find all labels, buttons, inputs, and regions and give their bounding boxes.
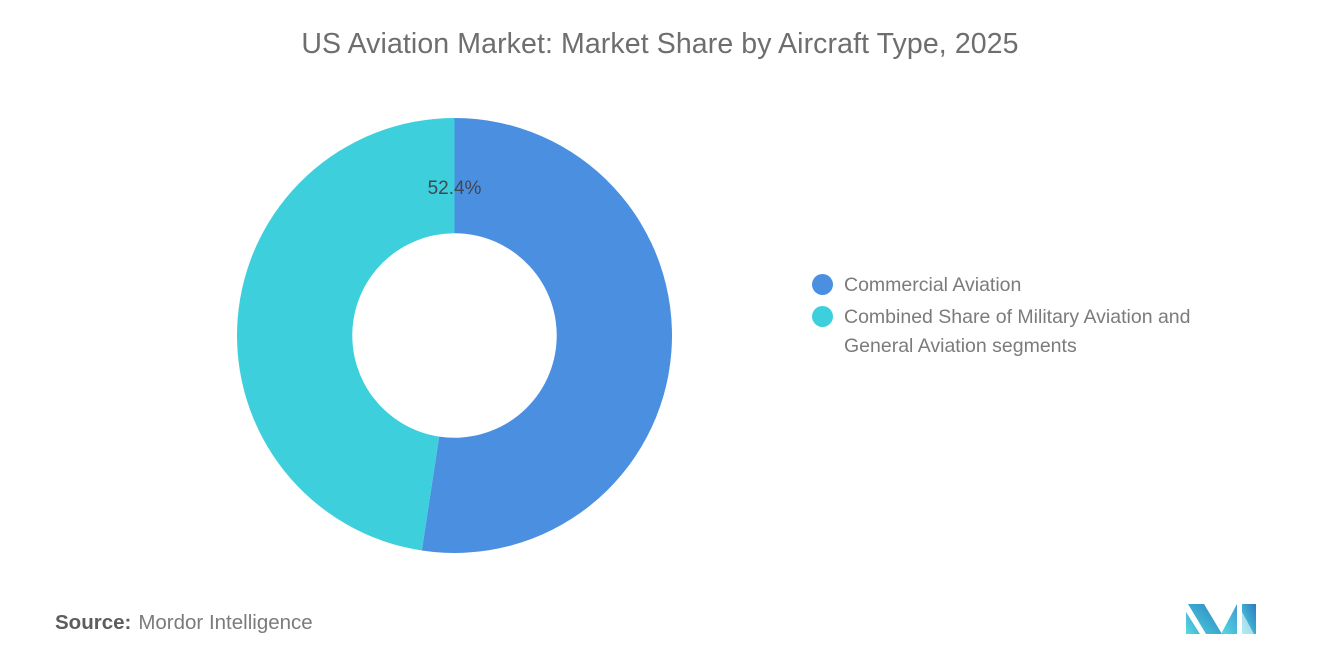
chart-page: US Aviation Market: Market Share by Airc… <box>0 0 1320 665</box>
legend-item-combined-military-general[interactable]: Combined Share of Military Aviation and … <box>812 303 1272 361</box>
legend-item-commercial-aviation[interactable]: Commercial Aviation <box>812 271 1272 300</box>
donut-chart: 52.4% <box>237 118 672 553</box>
chart-legend: Commercial Aviation Combined Share of Mi… <box>812 271 1272 364</box>
legend-item-label: Combined Share of Military Aviation and … <box>844 303 1264 361</box>
legend-swatch-icon <box>812 306 833 327</box>
source-label: Source: <box>55 611 131 634</box>
mordor-intelligence-logo-icon <box>1184 596 1262 640</box>
source-value: Mordor Intelligence <box>138 611 312 634</box>
donut-chart-svg <box>237 118 672 553</box>
page-title: US Aviation Market: Market Share by Airc… <box>0 28 1320 61</box>
donut-slice-combined-military-general[interactable] <box>237 118 454 551</box>
donut-slice-commercial-aviation[interactable] <box>422 118 672 553</box>
donut-slices <box>237 118 672 553</box>
source-line: Source:Mordor Intelligence <box>55 611 313 635</box>
legend-swatch-icon <box>812 274 833 295</box>
legend-item-label: Commercial Aviation <box>844 271 1021 300</box>
